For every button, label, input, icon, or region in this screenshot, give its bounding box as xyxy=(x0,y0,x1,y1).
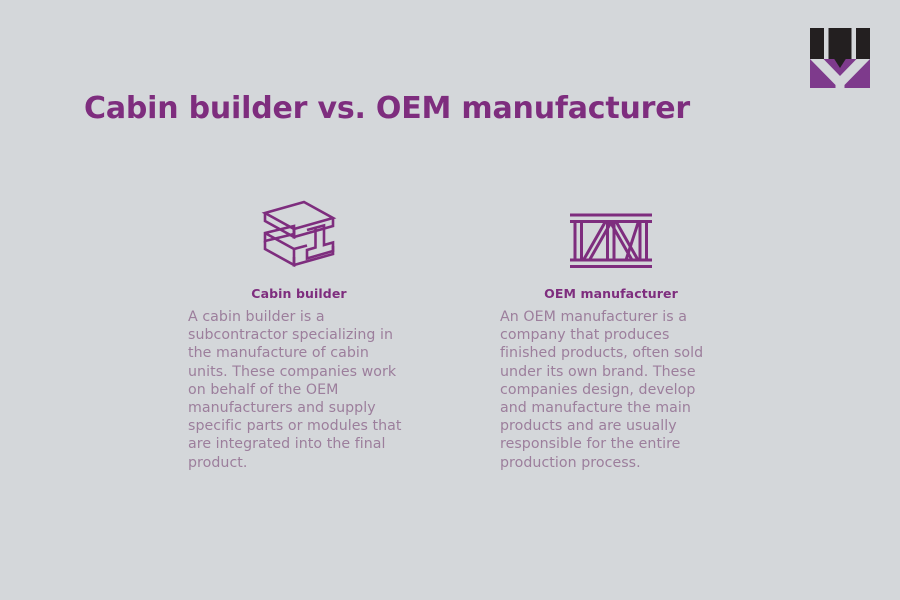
slide-canvas: Cabin builder vs. OEM manufacturer xyxy=(0,0,900,600)
brand-logo xyxy=(810,28,870,88)
card-body-cabin-builder: A cabin builder is a subcontractor speci… xyxy=(188,308,403,472)
column-oem-manufacturer: OEM manufacturer An OEM manufacturer is … xyxy=(500,196,722,472)
page-title: Cabin builder vs. OEM manufacturer xyxy=(84,90,690,128)
i-beam-icon xyxy=(188,196,410,272)
truss-girder-icon-glyph xyxy=(569,210,653,272)
brand-logo-mark xyxy=(810,28,870,88)
comparison-columns: Cabin builder A cabin builder is a subco… xyxy=(0,196,900,496)
truss-girder-icon xyxy=(500,196,722,272)
i-beam-icon-glyph xyxy=(261,200,337,272)
card-heading-oem-manufacturer: OEM manufacturer xyxy=(500,286,722,302)
card-heading-cabin-builder: Cabin builder xyxy=(188,286,410,302)
card-body-oem-manufacturer: An OEM manufacturer is a company that pr… xyxy=(500,308,712,472)
column-cabin-builder: Cabin builder A cabin builder is a subco… xyxy=(188,196,410,472)
